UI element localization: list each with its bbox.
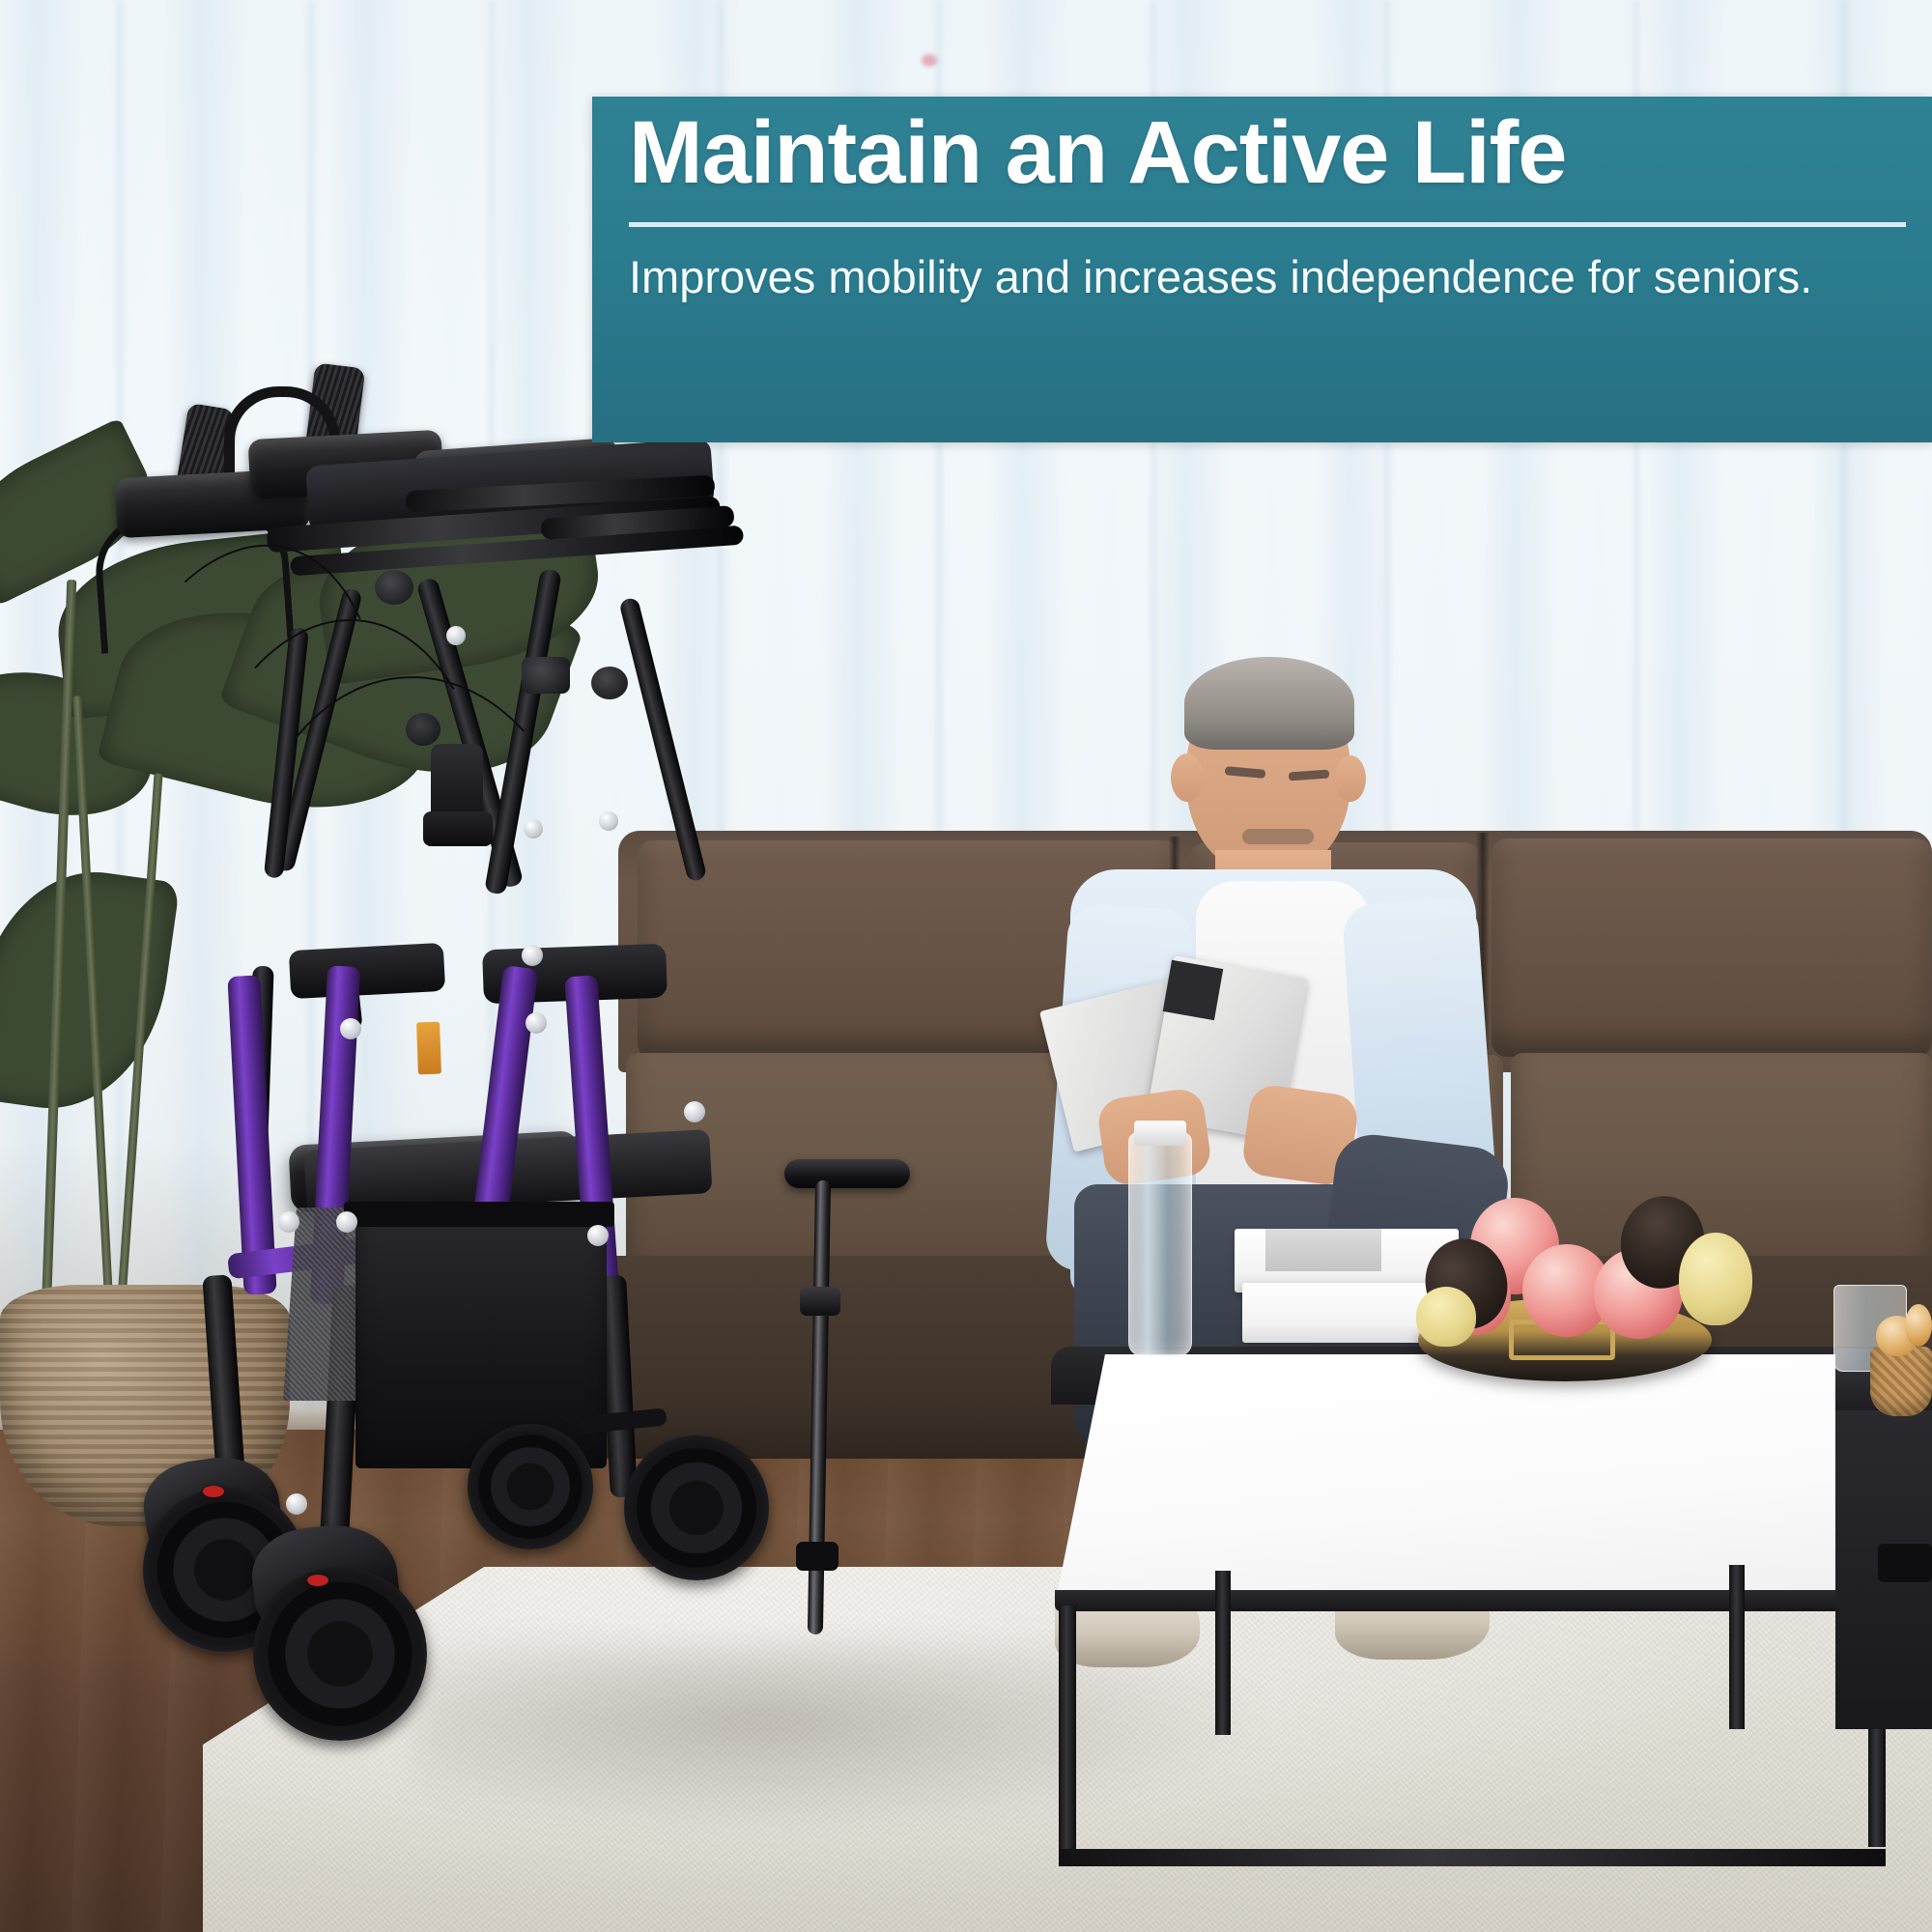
side-table-drawer-handle xyxy=(1878,1544,1932,1582)
pear-fruit xyxy=(1416,1287,1476,1347)
headline-banner: Maintain an Active Life Improves mobilit… xyxy=(592,97,1932,442)
cane-adjust-collar xyxy=(800,1287,840,1316)
coffee-table-leg xyxy=(1215,1571,1231,1735)
coffee-table-apron xyxy=(1055,1590,1891,1611)
rug-shadow xyxy=(415,1642,1285,1835)
sofa-back-cushion xyxy=(1492,838,1932,1057)
under-seat-storage-bag xyxy=(355,1207,607,1468)
man-ear xyxy=(1335,755,1366,802)
man-moustache xyxy=(1242,829,1314,844)
height-adjust-button xyxy=(522,945,543,966)
man-ear xyxy=(1171,753,1204,802)
book-cover-inset xyxy=(1265,1229,1381,1271)
height-adjust-button xyxy=(526,1012,547,1034)
front-wheel xyxy=(253,1567,427,1741)
banner-divider xyxy=(629,222,1906,227)
hinge-knob xyxy=(591,667,628,699)
height-adjust-button xyxy=(524,819,543,838)
height-adjust-button xyxy=(336,1211,357,1233)
banner-subtitle: Improves mobility and increases independ… xyxy=(629,243,1914,311)
height-adjust-button xyxy=(446,626,466,645)
product-marketing-image: Maintain an Active Life Improves mobilit… xyxy=(0,0,1932,1932)
man-hair xyxy=(1184,657,1354,750)
pear-fruit xyxy=(1679,1233,1752,1325)
wheel-red-accent xyxy=(307,1575,328,1586)
rear-wheel xyxy=(624,1435,769,1580)
height-adjust-button xyxy=(286,1493,307,1515)
book-cover-graphic xyxy=(1163,960,1224,1021)
height-adjust-button xyxy=(278,1211,299,1233)
height-adjust-button xyxy=(684,1101,705,1122)
cane-handle xyxy=(784,1159,910,1188)
warning-label xyxy=(416,1022,441,1075)
banner-title: Maintain an Active Life xyxy=(629,102,1904,203)
wheel-red-accent xyxy=(203,1486,224,1497)
hinge-knob xyxy=(375,570,413,605)
hinge-knob xyxy=(522,657,570,694)
image-artifact xyxy=(922,54,937,67)
frame-clamp xyxy=(289,943,445,999)
cane-tip xyxy=(796,1542,838,1571)
bread-roll xyxy=(1905,1304,1932,1347)
height-adjust-button xyxy=(340,1018,361,1039)
water-bottle xyxy=(1128,1132,1192,1356)
coffee-table-leg xyxy=(1059,1605,1076,1866)
bottle-cap xyxy=(1134,1121,1186,1146)
bag-rim xyxy=(344,1202,614,1227)
coffee-table-top xyxy=(1055,1354,1891,1605)
coffee-table-stretcher xyxy=(1059,1849,1886,1866)
wicker-basket xyxy=(1870,1347,1932,1416)
height-adjust-button xyxy=(599,811,618,831)
coffee-table-leg xyxy=(1729,1565,1745,1729)
height-adjust-button xyxy=(587,1225,609,1246)
rear-wheel xyxy=(468,1424,593,1549)
